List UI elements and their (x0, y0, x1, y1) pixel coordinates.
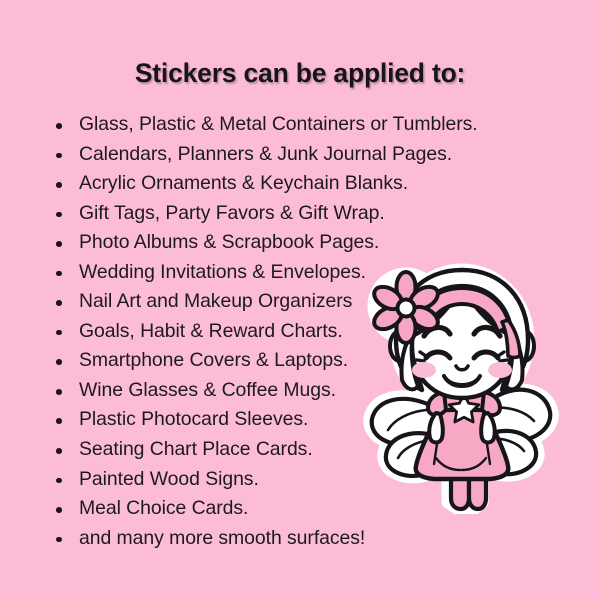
list-item: and many more smooth surfaces! (0, 524, 600, 554)
fairy-girl-sticker-icon (356, 258, 566, 514)
list-item: Gift Tags, Party Favors & Gift Wrap. (0, 199, 600, 229)
page-title: Stickers can be applied to: (0, 58, 600, 89)
list-item: Photo Albums & Scrapbook Pages. (0, 228, 600, 258)
list-item: Calendars, Planners & Junk Journal Pages… (0, 140, 600, 170)
list-item: Glass, Plastic & Metal Containers or Tum… (0, 110, 600, 140)
sticker-info-graphic: Stickers can be applied to: Glass, Plast… (0, 0, 600, 600)
list-item: Acrylic Ornaments & Keychain Blanks. (0, 169, 600, 199)
